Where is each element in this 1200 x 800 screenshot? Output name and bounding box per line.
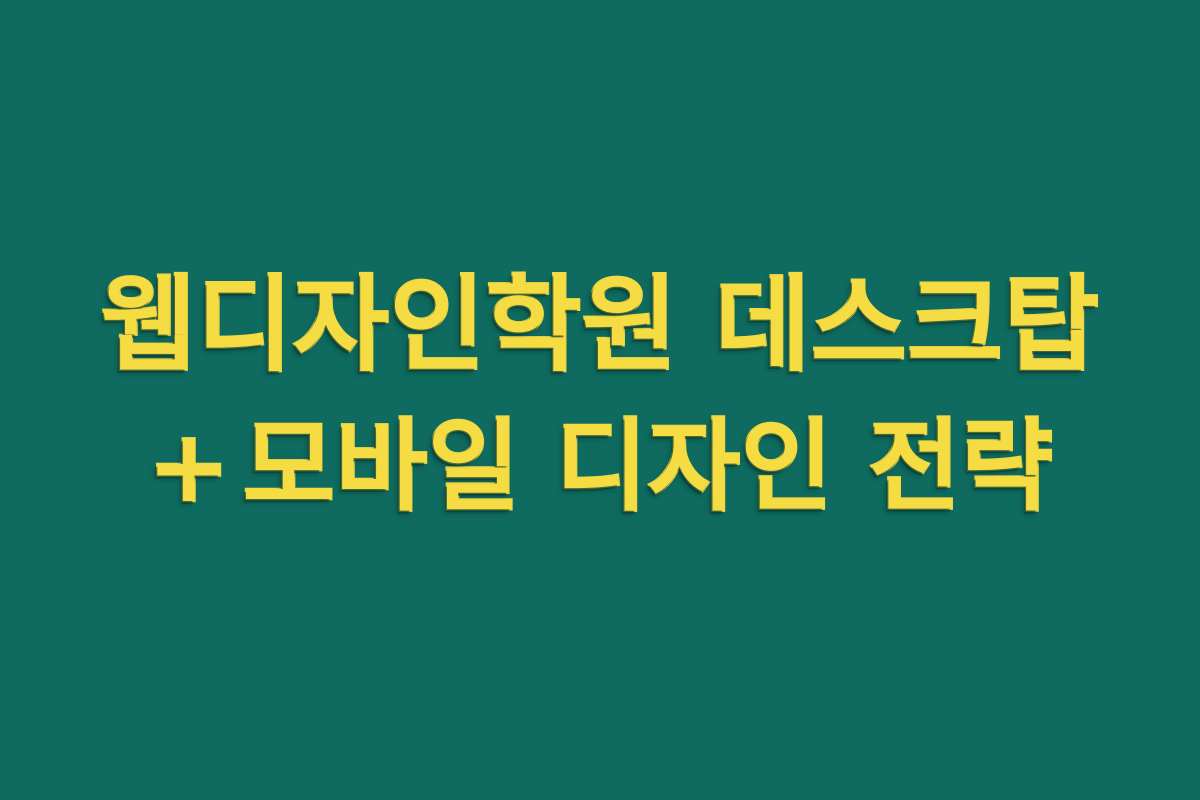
- plus-icon: +: [147, 398, 233, 536]
- headline-line-2-text: 모바일 디자인 전략: [243, 408, 1054, 525]
- headline-line-1: 웹디자인학원 데스크탑: [0, 254, 1200, 398]
- headline-block: 웹디자인학원 데스크탑 +모바일 디자인 전략: [0, 254, 1200, 536]
- headline-line-2: +모바일 디자인 전략: [0, 398, 1200, 536]
- banner-canvas: 웹디자인학원 데스크탑 +모바일 디자인 전략: [0, 0, 1200, 800]
